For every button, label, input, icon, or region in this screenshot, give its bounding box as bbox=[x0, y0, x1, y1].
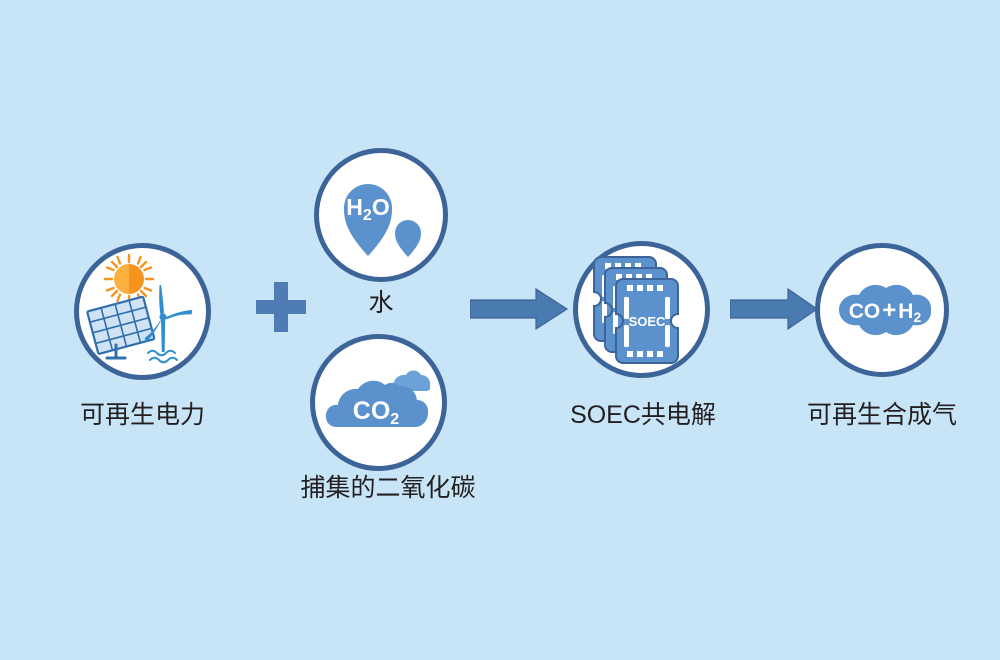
caption-water: 水 bbox=[311, 291, 451, 316]
small-droplet-icon bbox=[395, 220, 421, 257]
caption-soec: SOEC共电解 bbox=[553, 403, 733, 428]
caption-syngas: 可再生合成气 bbox=[792, 403, 972, 428]
water-waves-icon bbox=[148, 351, 177, 363]
water-droplet-icons: H2O bbox=[324, 158, 438, 272]
diagram-canvas: 可再生电力 H2O 水 CO2 捕集的二氧化碳 bbox=[0, 0, 1000, 660]
renewable-power-icons bbox=[82, 251, 203, 372]
node-water: H2O bbox=[314, 148, 448, 282]
solar-panel-icon bbox=[87, 297, 154, 358]
plus-symbol bbox=[252, 278, 310, 336]
syngas-cloud-icon: CO+H2 bbox=[825, 253, 939, 367]
wind-turbine-icon bbox=[145, 285, 192, 352]
caption-renewable-power: 可再生电力 bbox=[0, 403, 285, 428]
node-syngas: CO+H2 bbox=[815, 243, 949, 377]
node-renewable-power bbox=[74, 243, 211, 380]
soec-plate-front: SOEC bbox=[616, 279, 678, 363]
syngas-formula: CO+H2 bbox=[849, 297, 922, 325]
node-captured-co2: CO2 bbox=[310, 334, 447, 471]
co2-cloud-icons: CO2 bbox=[319, 343, 438, 462]
plus-icon bbox=[252, 278, 310, 336]
node-soec: SOEC bbox=[573, 241, 710, 378]
soec-stack-icon: SOEC bbox=[585, 251, 698, 368]
arrow-right-icon-1 bbox=[470, 288, 570, 330]
sun-icon bbox=[105, 255, 153, 303]
caption-captured-co2: 捕集的二氧化碳 bbox=[288, 476, 488, 501]
soec-label: SOEC bbox=[629, 314, 666, 329]
arrow-right-icon-2 bbox=[730, 288, 820, 330]
